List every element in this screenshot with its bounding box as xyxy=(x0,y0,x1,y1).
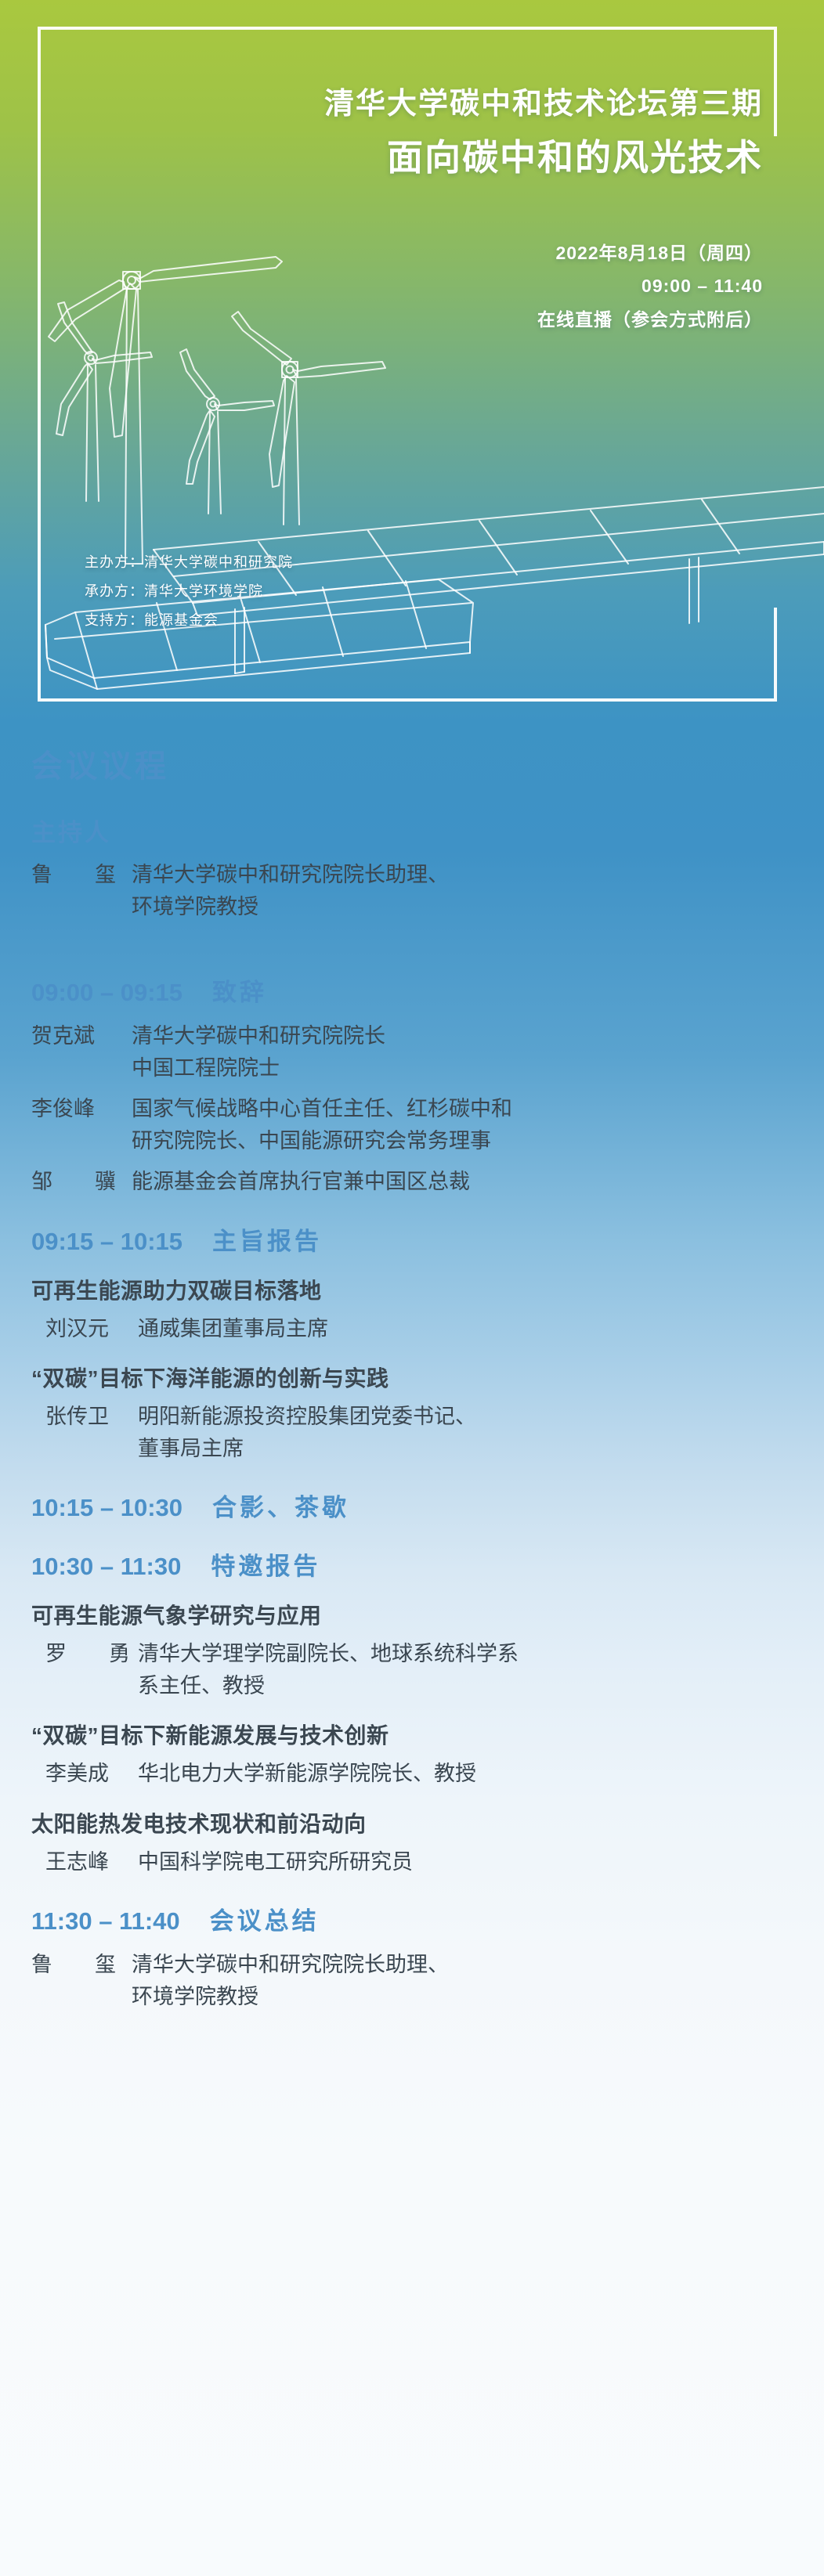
talk-title: “双碳”目标下新能源发展与技术创新 xyxy=(31,1719,777,1750)
person-affiliation: 清华大学碳中和研究院院长中国工程院院士 xyxy=(132,1020,777,1084)
speaker-affiliation-line1: 通威集团董事局主席 xyxy=(138,1317,328,1340)
session-person: 鲁 玺清华大学碳中和研究院院长助理、环境学院教授 xyxy=(31,1949,777,2012)
session-heading: 11:30 – 11:40会议总结 xyxy=(31,1901,777,1936)
session-list: 09:00 – 09:15致辞贺克斌清华大学碳中和研究院院长中国工程院院士李俊峰… xyxy=(31,972,777,2012)
hero-title-line2: 面向碳中和的风光技术 xyxy=(0,132,763,182)
hero-text-block: 清华大学碳中和技术论坛第三期 面向碳中和的风光技术 2022年8月18日（周四）… xyxy=(0,0,824,336)
hero-title-line1: 清华大学碳中和技术论坛第三期 xyxy=(0,85,763,124)
talk-speaker: 王志峰中国科学院电工研究所研究员 xyxy=(45,1846,777,1878)
talk-speaker: 罗 勇清华大学理学院副院长、地球系统科学系系主任、教授 xyxy=(45,1638,777,1701)
person-name: 邹 骥 xyxy=(31,1166,132,1198)
speaker-affiliation-line1: 明阳新能源投资控股集团党委书记、 xyxy=(138,1405,476,1428)
speaker-affiliation-line2: 董事局主席 xyxy=(138,1433,777,1465)
person-affiliation-line2: 研究院院长、中国能源研究会常务理事 xyxy=(132,1125,777,1157)
session-heading: 10:15 – 10:30合影、茶歇 xyxy=(31,1488,777,1523)
session-label: 合影、茶歇 xyxy=(212,1494,349,1521)
speaker-affiliation: 华北电力大学新能源学院院长、教授 xyxy=(138,1758,777,1790)
person-affiliation-line1: 清华大学碳中和研究院院长助理、 xyxy=(132,1953,449,1976)
host-section-heading: 主持人 xyxy=(31,813,777,848)
session-time: 10:30 – 11:30 xyxy=(31,1553,181,1580)
speaker-affiliation: 清华大学理学院副院长、地球系统科学系系主任、教授 xyxy=(138,1638,777,1701)
session-label: 特邀报告 xyxy=(211,1553,320,1580)
talk-title: “双碳”目标下海洋能源的创新与实践 xyxy=(31,1362,777,1393)
hero-meta-block: 2022年8月18日（周四） 09:00 – 11:40 在线直播（参会方式附后… xyxy=(0,236,763,337)
speaker-affiliation-line2: 系主任、教授 xyxy=(138,1670,777,1702)
hero-banner: 清华大学碳中和技术论坛第三期 面向碳中和的风光技术 2022年8月18日（周四）… xyxy=(0,0,824,728)
speaker-affiliation: 中国科学院电工研究所研究员 xyxy=(138,1846,777,1878)
speaker-name: 张传卫 xyxy=(45,1401,138,1433)
event-date: 2022年8月18日（周四） xyxy=(0,236,763,270)
speaker-name: 李美成 xyxy=(45,1758,138,1790)
session-label: 致辞 xyxy=(212,979,267,1006)
speaker-affiliation-line1: 华北电力大学新能源学院院长、教授 xyxy=(138,1762,476,1785)
person-name: 李俊峰 xyxy=(31,1093,132,1125)
person-name: 鲁 玺 xyxy=(31,1949,132,1981)
person-affiliation-line2: 环境学院教授 xyxy=(132,1981,777,2013)
talk-speaker: 李美成华北电力大学新能源学院院长、教授 xyxy=(45,1758,777,1790)
speaker-affiliation: 通威集团董事局主席 xyxy=(138,1313,777,1345)
person-affiliation: 清华大学碳中和研究院院长助理、环境学院教授 xyxy=(132,1949,777,2012)
person-affiliation-line1: 国家气候战略中心首任主任、红杉碳中和 xyxy=(132,1097,512,1120)
talk-speaker: 刘汉元通威集团董事局主席 xyxy=(45,1313,777,1345)
speaker-name: 罗 勇 xyxy=(45,1638,138,1670)
co-organizer-line: 承办方：清华大学环境学院 xyxy=(85,577,293,606)
person-affiliation-line1: 能源基金会首席执行官兼中国区总裁 xyxy=(132,1170,470,1193)
talk-title: 可再生能源助力双碳目标落地 xyxy=(31,1274,777,1305)
session-time: 09:15 – 10:15 xyxy=(31,1228,183,1255)
person-affiliation-line1: 清华大学碳中和研究院院长 xyxy=(132,1024,385,1048)
session-person: 邹 骥能源基金会首席执行官兼中国区总裁 xyxy=(31,1166,777,1198)
talk-title: 可再生能源气象学研究与应用 xyxy=(31,1599,777,1630)
session-heading: 10:30 – 11:30特邀报告 xyxy=(31,1546,777,1582)
session-label: 主旨报告 xyxy=(212,1228,322,1255)
session-heading: 09:15 – 10:15主旨报告 xyxy=(31,1221,777,1257)
supporter-line: 支持方：能源基金会 xyxy=(85,606,293,635)
agenda-title: 会议议程 xyxy=(31,741,777,786)
session-person: 贺克斌清华大学碳中和研究院院长中国工程院院士 xyxy=(31,1020,777,1084)
speaker-name: 王志峰 xyxy=(45,1846,138,1878)
speaker-affiliation-line1: 中国科学院电工研究所研究员 xyxy=(138,1850,413,1874)
speaker-affiliation: 明阳新能源投资控股集团党委书记、董事局主席 xyxy=(138,1401,777,1464)
session-time: 09:00 – 09:15 xyxy=(31,979,183,1006)
talk-speaker: 张传卫明阳新能源投资控股集团党委书记、董事局主席 xyxy=(45,1401,777,1464)
session-time: 11:30 – 11:40 xyxy=(31,1907,180,1935)
event-time: 09:00 – 11:40 xyxy=(0,269,763,303)
poster-root: 清华大学碳中和技术论坛第三期 面向碳中和的风光技术 2022年8月18日（周四）… xyxy=(0,0,824,2576)
person-affiliation: 国家气候战略中心首任主任、红杉碳中和研究院院长、中国能源研究会常务理事 xyxy=(132,1093,777,1156)
person-affiliation-line2: 中国工程院院士 xyxy=(132,1052,777,1084)
session-heading: 09:00 – 09:15致辞 xyxy=(31,972,777,1008)
session-time: 10:15 – 10:30 xyxy=(31,1494,183,1521)
host-affiliation-line1: 清华大学碳中和研究院院长助理、 xyxy=(132,863,449,886)
host-affiliation-line2: 环境学院教授 xyxy=(132,891,777,923)
person-name: 贺克斌 xyxy=(31,1020,132,1052)
session-label: 会议总结 xyxy=(210,1907,320,1935)
event-mode: 在线直播（参会方式附后） xyxy=(0,303,763,337)
speaker-affiliation-line1: 清华大学理学院副院长、地球系统科学系 xyxy=(138,1642,519,1665)
host-person: 鲁 玺 清华大学碳中和研究院院长助理、 环境学院教授 xyxy=(31,859,777,922)
agenda-section: 会议议程 主持人 鲁 玺 清华大学碳中和研究院院长助理、 环境学院教授 09:0… xyxy=(0,728,824,2076)
organizers-block: 主办方：清华大学碳中和研究院 承办方：清华大学环境学院 支持方：能源基金会 xyxy=(85,548,293,635)
session-person: 李俊峰国家气候战略中心首任主任、红杉碳中和研究院院长、中国能源研究会常务理事 xyxy=(31,1093,777,1156)
person-affiliation: 能源基金会首席执行官兼中国区总裁 xyxy=(132,1166,777,1198)
talk-title: 太阳能热发电技术现状和前沿动向 xyxy=(31,1807,777,1838)
host-name: 鲁 玺 xyxy=(31,859,132,891)
organizer-line: 主办方：清华大学碳中和研究院 xyxy=(85,548,293,577)
host-affiliation: 清华大学碳中和研究院院长助理、 环境学院教授 xyxy=(132,859,777,922)
speaker-name: 刘汉元 xyxy=(45,1313,138,1345)
